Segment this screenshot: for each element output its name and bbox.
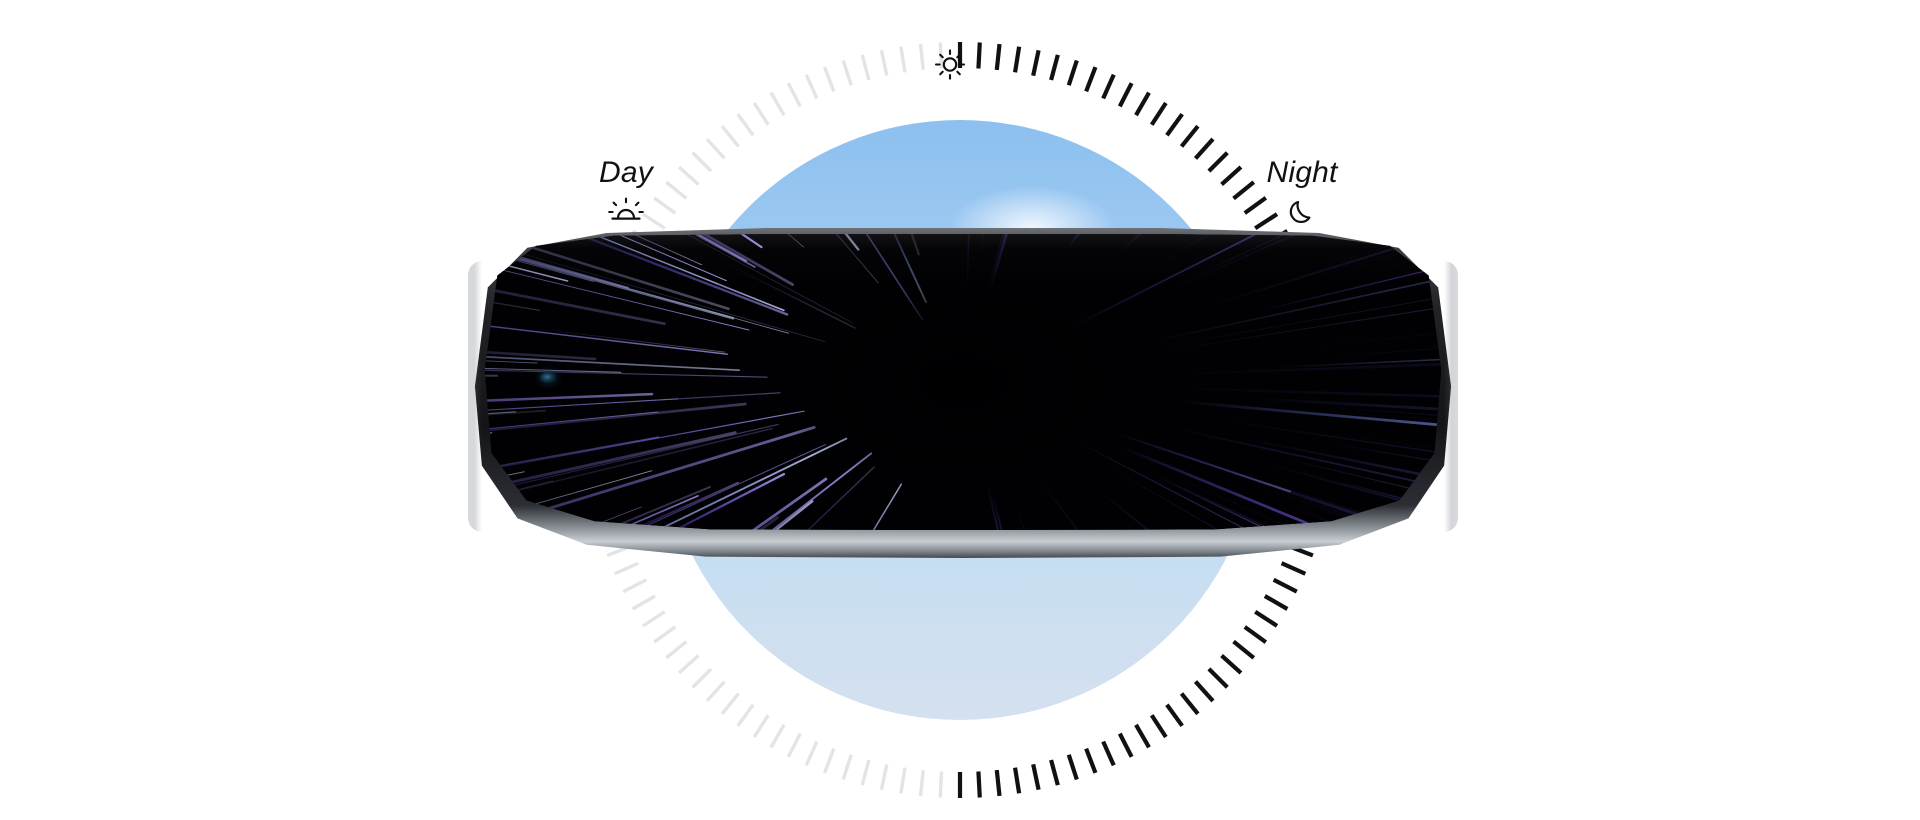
dial-tick xyxy=(654,627,675,642)
dial-tick xyxy=(1234,642,1254,658)
dial-tick xyxy=(1255,612,1277,626)
dial-tick xyxy=(788,83,800,106)
dial-tick xyxy=(1051,55,1058,80)
dial-tick xyxy=(623,580,646,592)
dial-tick xyxy=(1015,47,1019,73)
dial-tick xyxy=(901,47,905,73)
dial-tick xyxy=(1209,669,1227,687)
dial-tick xyxy=(1182,126,1198,146)
dial-tick xyxy=(771,93,784,116)
dial-tick xyxy=(825,67,834,91)
dial-tick xyxy=(707,682,724,701)
dial-tick xyxy=(788,734,800,757)
dial-tick xyxy=(1051,760,1058,785)
dial-tick xyxy=(1136,93,1149,116)
dial-tick xyxy=(1152,103,1166,125)
dial-tick xyxy=(1033,764,1038,789)
dial-tick xyxy=(997,770,1000,796)
dial-tick xyxy=(881,50,886,75)
wallpaper-streak xyxy=(478,234,527,252)
crescent-moon-icon xyxy=(1232,197,1372,232)
phone-screen[interactable] xyxy=(478,234,1448,530)
wallpaper-streak xyxy=(478,234,507,250)
night-label-group[interactable]: Night xyxy=(1232,158,1372,232)
sunrise-icon xyxy=(556,197,696,230)
day-label: Day xyxy=(556,158,696,188)
dial-tick xyxy=(1167,705,1182,726)
dial-tick xyxy=(862,55,869,80)
dial-tick xyxy=(1182,694,1198,714)
dial-tick xyxy=(940,772,941,798)
wallpaper-streak xyxy=(1435,234,1448,239)
dial-tick xyxy=(978,772,979,798)
dial-tick xyxy=(1033,50,1038,75)
dial-tick xyxy=(1069,61,1077,86)
dial-tick xyxy=(643,612,665,626)
dial-tick xyxy=(997,44,1000,70)
dial-tick xyxy=(843,755,851,780)
dial-tick xyxy=(1086,67,1095,91)
dial-tick xyxy=(1167,114,1182,135)
wallpaper-light-streaks xyxy=(478,234,1448,530)
dial-tick xyxy=(633,596,656,609)
dial-tick xyxy=(666,642,686,658)
dial-tick xyxy=(1015,768,1019,794)
dial-tick xyxy=(693,669,711,687)
dial-tick xyxy=(1103,75,1114,99)
smartphone xyxy=(468,228,1458,558)
dial-tick xyxy=(1120,734,1132,757)
night-label: Night xyxy=(1232,158,1372,188)
dial-tick xyxy=(806,75,817,99)
dial-tick xyxy=(615,563,639,574)
sun-icon xyxy=(920,47,980,86)
sun-icon-wrapper xyxy=(920,38,980,86)
day-label-group[interactable]: Day xyxy=(556,158,696,230)
dial-tick xyxy=(1086,749,1095,773)
dial-tick xyxy=(722,694,738,714)
dial-tick xyxy=(825,749,834,773)
dial-tick xyxy=(1245,627,1266,642)
wallpaper-streak xyxy=(478,234,485,253)
dial-tick xyxy=(1196,682,1213,701)
dial-tick xyxy=(679,656,698,673)
dial-tick xyxy=(1196,139,1213,158)
dial-tick xyxy=(881,764,886,789)
dial-tick xyxy=(843,61,851,86)
dial-tick xyxy=(722,126,738,146)
dial-tick xyxy=(1274,580,1297,592)
dial-tick xyxy=(1282,563,1306,574)
dial-tick xyxy=(1069,755,1077,780)
dial-tick xyxy=(754,715,768,737)
dial-tick xyxy=(738,114,753,135)
dial-tick xyxy=(754,103,768,125)
dial-tick xyxy=(1152,715,1166,737)
dial-tick xyxy=(1209,153,1227,171)
dial-tick xyxy=(806,742,817,766)
punch-hole-camera xyxy=(540,372,556,383)
dial-tick xyxy=(1265,596,1288,609)
wallpaper-streak xyxy=(478,234,484,277)
dial-tick xyxy=(707,139,724,158)
dial-tick xyxy=(1222,656,1241,673)
dial-tick xyxy=(1136,725,1149,748)
dial-tick xyxy=(1103,742,1114,766)
dial-tick xyxy=(920,770,923,796)
wallpaper-streak xyxy=(1386,234,1448,238)
dial-tick xyxy=(771,725,784,748)
dial-tick xyxy=(901,768,905,794)
scene-root: Day Night xyxy=(0,0,1920,800)
wallpaper-streak xyxy=(478,234,489,256)
dial-tick xyxy=(1120,83,1132,106)
dial-tick xyxy=(862,760,869,785)
dial-tick xyxy=(738,705,753,726)
